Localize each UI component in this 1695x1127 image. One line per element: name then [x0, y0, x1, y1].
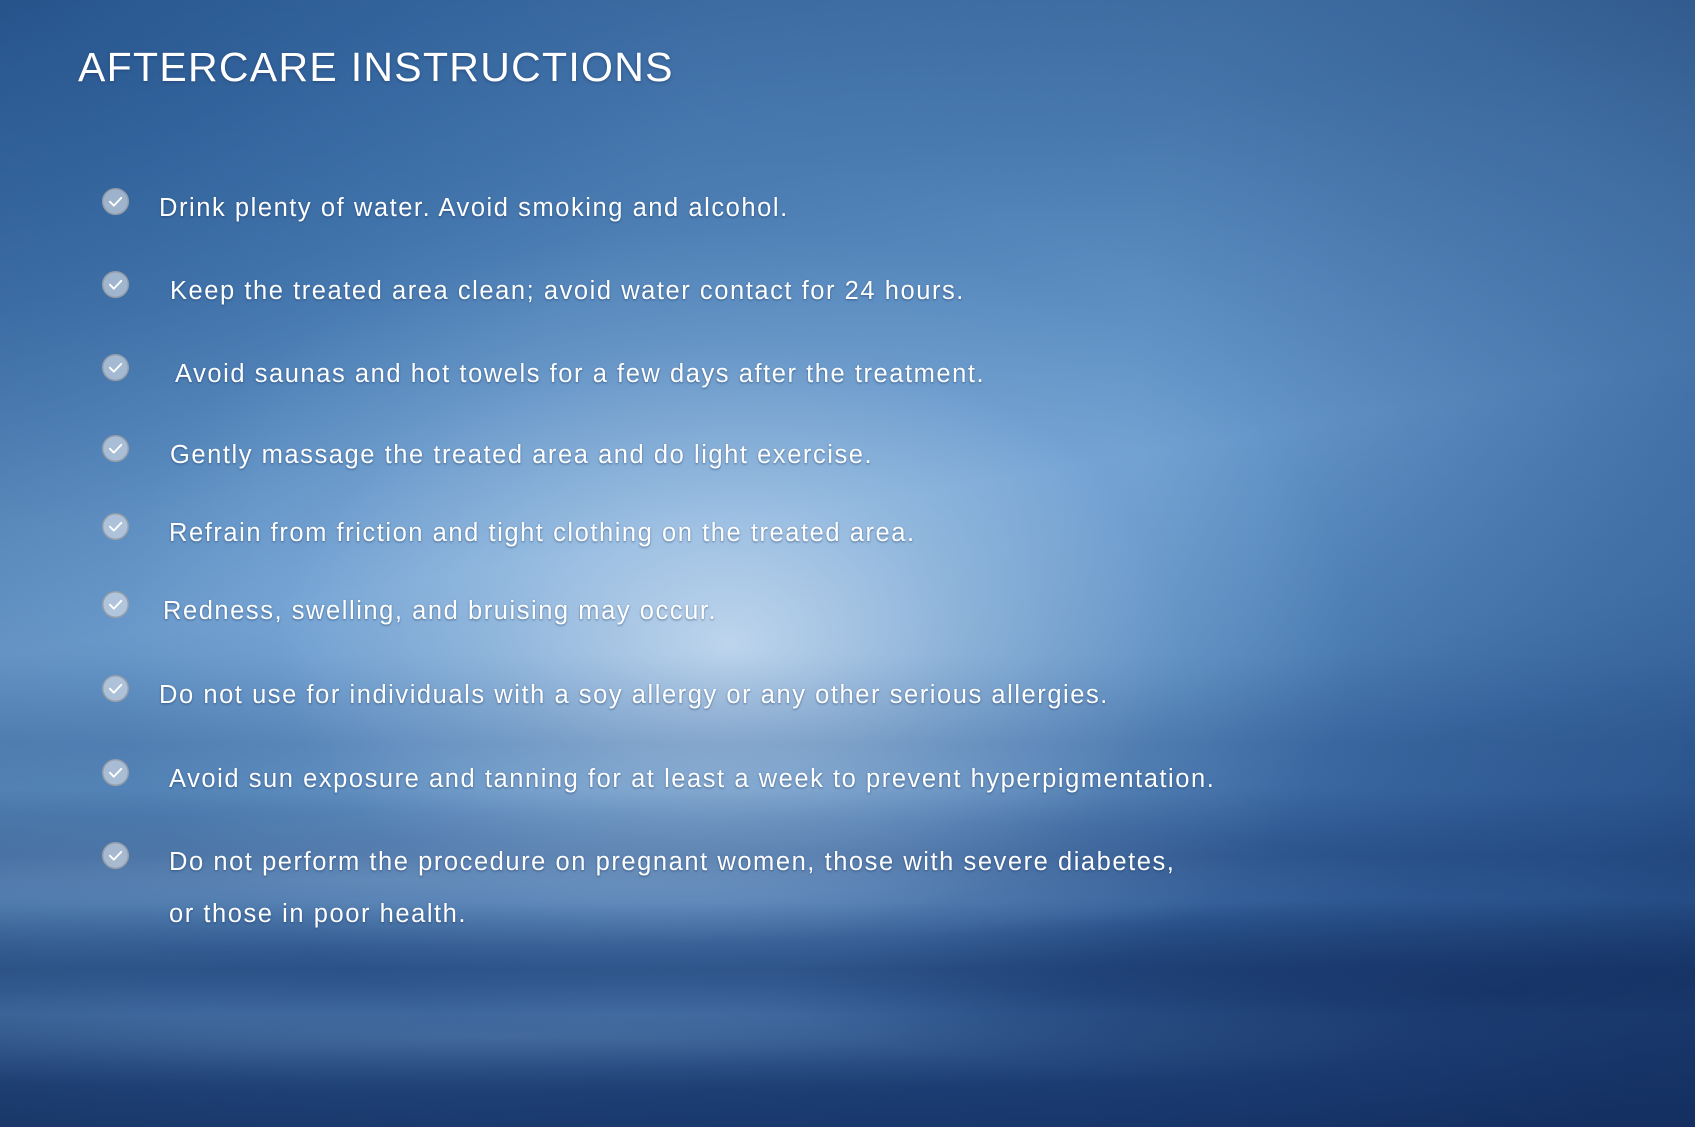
- list-item-label: Gently massage the treated area and do l…: [170, 429, 873, 481]
- list-item-label: Drink plenty of water. Avoid smoking and…: [159, 182, 789, 234]
- list-item-label: Do not use for individuals with a soy al…: [159, 669, 1109, 721]
- list-item-label: Redness, swelling, and bruising may occu…: [163, 585, 717, 637]
- list-item: Do not use for individuals with a soy al…: [100, 669, 1660, 721]
- check-circle-icon: [100, 840, 131, 871]
- check-circle-icon: [100, 269, 131, 300]
- list-item-label: Avoid sun exposure and tanning for at le…: [169, 753, 1215, 805]
- list-item-label: Do not perform the procedure on pregnant…: [169, 836, 1175, 940]
- list-item: Refrain from friction and tight clothing…: [100, 507, 1660, 559]
- check-circle-icon: [100, 589, 131, 620]
- aftercare-instructions-slide: AFTERCARE INSTRUCTIONS Drink plenty of w…: [0, 0, 1695, 1127]
- check-circle-icon: [100, 673, 131, 704]
- list-item-label: Keep the treated area clean; avoid water…: [170, 265, 965, 317]
- list-item: Do not perform the procedure on pregnant…: [100, 836, 1660, 940]
- instruction-list: Drink plenty of water. Avoid smoking and…: [100, 182, 1660, 940]
- slide-content: AFTERCARE INSTRUCTIONS Drink plenty of w…: [0, 0, 1695, 1127]
- list-item-label: Refrain from friction and tight clothing…: [169, 507, 916, 559]
- list-item: Avoid sun exposure and tanning for at le…: [100, 753, 1660, 805]
- list-item: Gently massage the treated area and do l…: [100, 429, 1660, 481]
- list-item: Drink plenty of water. Avoid smoking and…: [100, 182, 1660, 234]
- list-item: Redness, swelling, and bruising may occu…: [100, 585, 1660, 637]
- check-circle-icon: [100, 186, 131, 217]
- check-circle-icon: [100, 511, 131, 542]
- check-circle-icon: [100, 757, 131, 788]
- list-item: Avoid saunas and hot towels for a few da…: [100, 348, 1660, 400]
- list-item: Keep the treated area clean; avoid water…: [100, 265, 1660, 317]
- page-title: AFTERCARE INSTRUCTIONS: [78, 44, 674, 91]
- list-item-label: Avoid saunas and hot towels for a few da…: [175, 348, 985, 400]
- check-circle-icon: [100, 433, 131, 464]
- check-circle-icon: [100, 352, 131, 383]
